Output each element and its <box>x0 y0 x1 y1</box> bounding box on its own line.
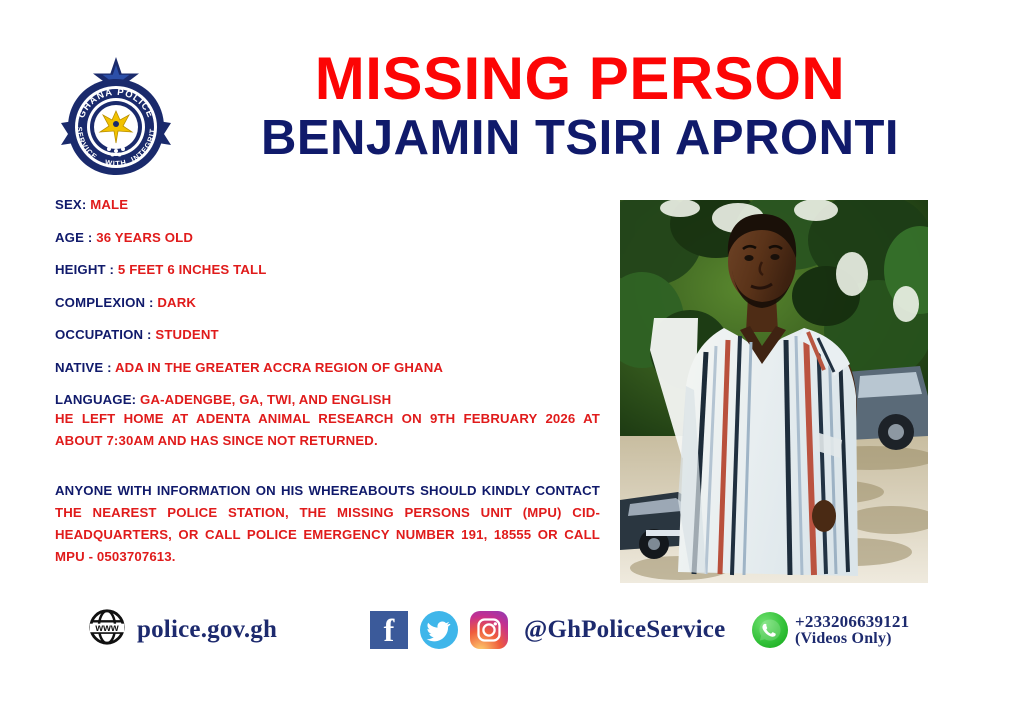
badge-bottom-text-center: WITH <box>104 158 127 168</box>
detail-row-occupation: OCCUPATION : STUDENT <box>55 327 600 342</box>
detail-value: 36 YEARS OLD <box>96 230 193 245</box>
whatsapp-contact-lines: +233206639121 (Videos Only) <box>795 613 909 648</box>
detail-label: AGE : <box>55 230 92 245</box>
detail-value: STUDENT <box>155 327 218 342</box>
detail-label: LANGUAGE: <box>55 392 136 407</box>
detail-row-height: HEIGHT : 5 FEET 6 INCHES TALL <box>55 262 600 277</box>
contact-information-paragraph: ANYONE WITH INFORMATION ON HIS WHEREABOU… <box>55 480 600 568</box>
detail-label: COMPLEXION : <box>55 295 154 310</box>
missing-person-poster: GHANA POLICE SERVICE WITH INTEGRITY <box>0 0 1024 724</box>
contact-paragraph-red: THE NEAREST POLICE STATION, THE MISSING … <box>55 505 600 564</box>
detail-label: NATIVE : <box>55 360 112 375</box>
detail-value: MALE <box>90 197 128 212</box>
whatsapp-footer: +233206639121 (Videos Only) <box>752 612 909 648</box>
ghana-police-badge: GHANA POLICE SERVICE WITH INTEGRITY <box>57 53 175 181</box>
twitter-icon[interactable] <box>420 611 458 649</box>
whatsapp-number[interactable]: +233206639121 <box>795 613 909 631</box>
last-seen-paragraph: HE LEFT HOME AT ADENTA ANIMAL RESEARCH O… <box>55 408 600 452</box>
detail-row-language: LANGUAGE: GA-ADENGBE, GA, TWI, AND ENGLI… <box>55 392 600 407</box>
missing-person-photo <box>620 200 928 583</box>
detail-label: SEX: <box>55 197 86 212</box>
social-handle[interactable]: @GhPoliceService <box>524 616 725 644</box>
whatsapp-note: (Videos Only) <box>795 631 909 648</box>
website-url[interactable]: police.gov.gh <box>137 616 277 644</box>
facebook-icon[interactable]: f <box>370 611 408 649</box>
whatsapp-icon[interactable] <box>752 612 788 648</box>
detail-row-sex: SEX: MALE <box>55 197 600 212</box>
detail-row-native: NATIVE : ADA IN THE GREATER ACCRA REGION… <box>55 360 600 375</box>
detail-label: OCCUPATION : <box>55 327 152 342</box>
detail-value: 5 FEET 6 INCHES TALL <box>118 262 267 277</box>
detail-value: GA-ADENGBE, GA, TWI, AND ENGLISH <box>140 392 391 407</box>
page-title: MISSING PERSON <box>195 48 965 109</box>
missing-person-name: BENJAMIN TSIRI APRONTI <box>195 111 965 166</box>
contact-paragraph-navy: ANYONE WITH INFORMATION ON HIS WHEREABOU… <box>55 483 600 498</box>
detail-row-complexion: COMPLEXION : DARK <box>55 295 600 310</box>
poster-title-block: MISSING PERSON BENJAMIN TSIRI APRONTI <box>195 48 965 166</box>
social-media-footer: f @GhPoliceService <box>370 611 725 649</box>
detail-value: ADA IN THE GREATER ACCRA REGION OF GHANA <box>115 360 443 375</box>
www-globe-icon: www <box>88 608 126 651</box>
person-details-list: SEX: MALE AGE : 36 YEARS OLD HEIGHT : 5 … <box>55 197 600 425</box>
detail-row-age: AGE : 36 YEARS OLD <box>55 230 600 245</box>
detail-value: DARK <box>157 295 196 310</box>
svg-text:www: www <box>94 623 119 634</box>
website-footer[interactable]: www police.gov.gh <box>88 608 277 651</box>
instagram-icon[interactable] <box>470 611 508 649</box>
detail-label: HEIGHT : <box>55 262 114 277</box>
